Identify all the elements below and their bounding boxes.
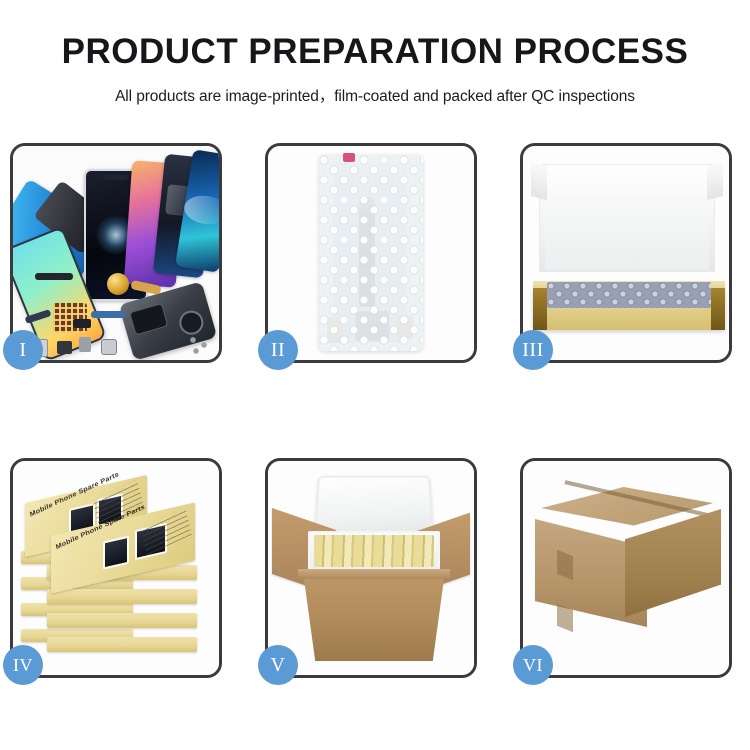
process-step-panel-3: III xyxy=(520,143,732,363)
process-step-panel-6: VI xyxy=(520,458,732,678)
small-part-icon xyxy=(79,337,91,352)
flex-cable-icon xyxy=(91,311,125,318)
chip-array-icon xyxy=(53,303,87,333)
step-1-illustration xyxy=(13,146,219,360)
box-stack-icon: Mobile Phone Spare Parts Mobile Phone Sp… xyxy=(17,477,219,663)
small-part-icon xyxy=(73,319,91,328)
step-badge-2: II xyxy=(258,330,298,370)
carton-body-icon xyxy=(304,579,444,661)
step-badge-1: I xyxy=(3,330,43,370)
tray-end-left xyxy=(533,288,547,330)
step-badge-4: IV xyxy=(3,645,43,685)
carton-side-face xyxy=(625,509,721,617)
step-5-illustration xyxy=(268,461,474,675)
yellow-boxes-inside-icon xyxy=(314,535,434,567)
process-step-grid: I II xyxy=(10,143,740,723)
step-badge-5: V xyxy=(258,645,298,685)
flex-cable-icon xyxy=(25,309,52,324)
page-title: PRODUCT PREPARATION PROCESS xyxy=(0,34,750,71)
process-step-panel-4: Mobile Phone Spare Parts Mobile Phone Sp… xyxy=(10,458,222,678)
step-6-illustration xyxy=(523,461,729,675)
pink-label-icon xyxy=(343,153,355,162)
bubble-wrap-bag-icon xyxy=(319,155,423,351)
tray-end-right xyxy=(711,288,725,330)
stacked-box xyxy=(47,613,197,628)
copper-coil-icon xyxy=(107,273,129,295)
step-badge-3: III xyxy=(513,330,553,370)
spare-parts-group xyxy=(13,257,219,360)
step-3-illustration xyxy=(523,146,729,360)
stacked-box xyxy=(47,637,197,652)
step-badge-6: VI xyxy=(513,645,553,685)
gold-connector-icon xyxy=(130,280,161,295)
sealed-carton-icon xyxy=(535,487,721,647)
header: PRODUCT PREPARATION PROCESS All products… xyxy=(0,0,750,106)
small-part-icon xyxy=(101,339,117,355)
box-window-icon xyxy=(103,536,129,570)
stacked-box xyxy=(47,589,197,604)
bubble-film-icon xyxy=(319,155,423,351)
page-subtitle: All products are image-printed，film-coat… xyxy=(0,84,750,106)
step-4-illustration: Mobile Phone Spare Parts Mobile Phone Sp… xyxy=(13,461,219,675)
process-step-panel-1: I xyxy=(10,143,222,363)
step-2-illustration xyxy=(268,146,474,360)
foam-backing-icon xyxy=(545,208,709,270)
process-step-panel-2: II xyxy=(265,143,477,363)
speaker-bar-icon xyxy=(35,273,73,280)
product-preparation-infographic: PRODUCT PREPARATION PROCESS All products… xyxy=(0,0,750,750)
screws-icon xyxy=(189,336,215,356)
process-step-panel-5: V xyxy=(265,458,477,678)
small-part-icon xyxy=(57,341,72,354)
bubble-packed-product-icon xyxy=(547,282,711,308)
